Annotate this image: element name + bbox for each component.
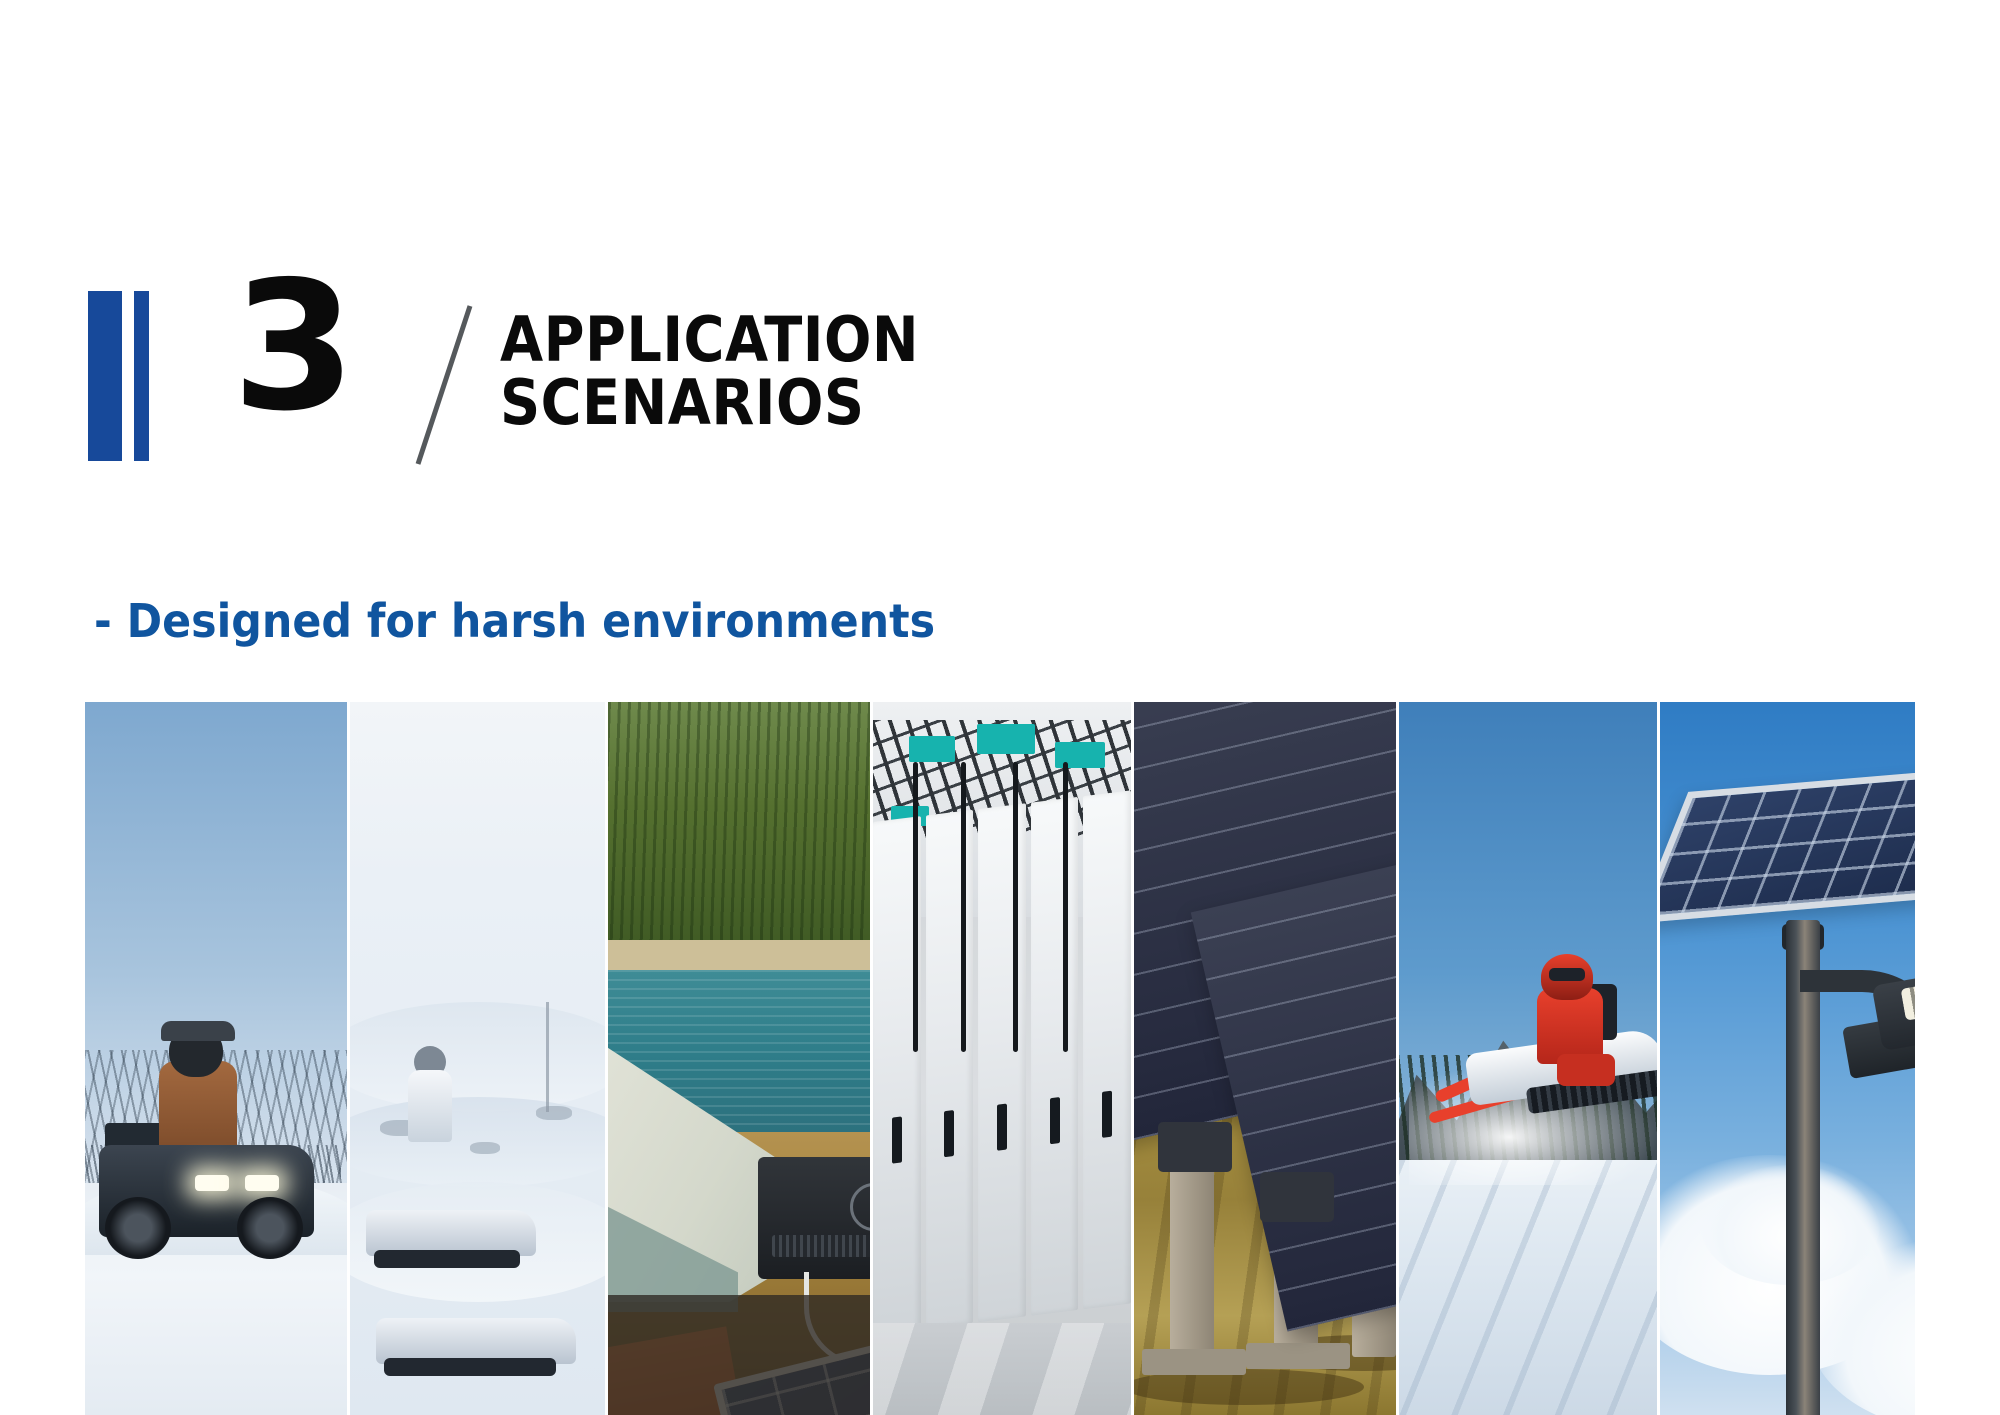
rider-suit (408, 1070, 452, 1142)
server-rack (1031, 797, 1079, 1316)
image-panel-solar-street-light (1660, 702, 1915, 1415)
teal-cable-bundle-2 (977, 724, 1035, 754)
page-title-line-2: SCENARIOS (500, 371, 919, 434)
drop-cable-2 (961, 762, 966, 1052)
image-strip (0, 702, 2000, 1415)
tracker-mount-1 (1158, 1122, 1232, 1172)
rider-legs (1557, 1054, 1615, 1086)
image-panel-snowmobiles-plain (350, 702, 605, 1415)
image-panel-data-center (873, 702, 1131, 1415)
server-rack (978, 803, 1026, 1322)
trail-marker-pole (546, 1002, 549, 1112)
raised-floor-tiles (873, 1323, 1131, 1415)
drop-cable-4 (1063, 762, 1068, 1052)
rock-2 (470, 1142, 500, 1154)
image-panel-snowmobile-jump (1399, 702, 1657, 1415)
snowmobile-lower (376, 1302, 576, 1380)
atv-headlight-right (245, 1175, 279, 1191)
accent-bar-thick (88, 291, 122, 461)
forest-hills (608, 702, 870, 952)
atv-wheel-rear (237, 1197, 303, 1259)
snow-slope (1399, 1160, 1657, 1415)
drop-cable-1 (913, 762, 918, 1052)
atv-wheel-front (105, 1197, 171, 1259)
image-panel-solar-farm (1134, 702, 1396, 1415)
portable-power-station (758, 1157, 870, 1279)
far-shore (608, 940, 870, 974)
rider-cap (161, 1021, 235, 1041)
page-title-line-1: APPLICATION (500, 308, 919, 371)
rock-3 (536, 1106, 572, 1120)
slide-header: 3 APPLICATION SCENARIOS -Designed for ha… (0, 0, 2000, 640)
power-station-vent (772, 1235, 870, 1257)
accent-bar-gap (122, 291, 134, 461)
accent-bar-thin (134, 291, 149, 461)
helmet-visor (1549, 968, 1585, 981)
jump-rider (1527, 954, 1627, 1074)
foreground-shadow (608, 1295, 870, 1415)
page-title: APPLICATION SCENARIOS (500, 308, 919, 434)
atv-headlight-left (195, 1175, 229, 1191)
drop-cable-3 (1013, 762, 1018, 1052)
pillar-base-1 (1142, 1349, 1246, 1375)
snow-ridge-far (350, 1002, 605, 1112)
subtitle-dash: - (94, 594, 112, 648)
tracker-mount-2 (1260, 1172, 1334, 1222)
pillar-base-2 (1246, 1343, 1350, 1369)
subtitle-text: Designed for harsh environments (127, 594, 935, 648)
section-number: 3 (232, 258, 354, 436)
server-rack-row (873, 790, 1131, 1335)
snowmobile-track (374, 1250, 520, 1268)
support-pillar-1 (1170, 1157, 1214, 1357)
power-station-dial (850, 1183, 870, 1231)
server-rack (1083, 790, 1131, 1309)
teal-cable-bundle-1 (909, 736, 955, 762)
atv-with-rider (99, 1090, 324, 1265)
snowmobile-track-2 (384, 1358, 556, 1376)
image-panel-winter-atv (85, 702, 347, 1415)
slide: 3 APPLICATION SCENARIOS -Designed for ha… (0, 0, 2000, 1415)
image-panel-camping-power-station (608, 702, 870, 1415)
snowmobile-upper (366, 1202, 536, 1272)
slash-divider-icon (410, 300, 482, 470)
subtitle: -Designed for harsh environments (94, 594, 935, 648)
server-rack (926, 810, 974, 1329)
accent-bars (88, 291, 149, 461)
